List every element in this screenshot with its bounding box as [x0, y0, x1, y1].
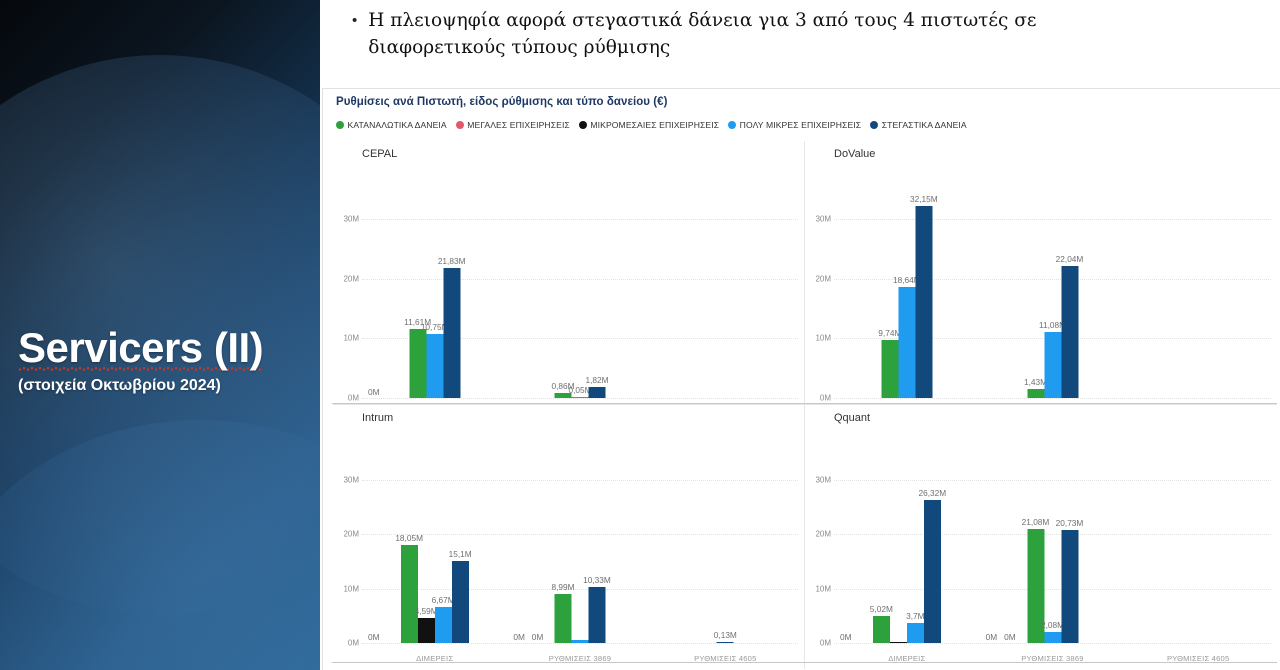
- bar[interactable]: [588, 587, 605, 643]
- zero-value-label: 0M 0M: [986, 632, 1016, 642]
- bars: 0,13M: [717, 453, 734, 643]
- bars: 8,99M10,33M: [554, 453, 605, 643]
- y-axis-tick: 0M: [805, 639, 831, 648]
- bars: 5,02M3,7M26,32M: [873, 453, 941, 643]
- bars: 21,08M2,08M20,73M: [1027, 453, 1078, 643]
- bar-column[interactable]: 32,15M: [915, 189, 932, 398]
- bar[interactable]: [1044, 632, 1061, 643]
- zero-value-label: 0M: [368, 387, 380, 397]
- y-axis-tick: 20M: [805, 274, 831, 283]
- legend-swatch-icon: [728, 121, 736, 129]
- x-axis-tick: ΔΙΜΕΡΕΙΣ: [888, 654, 925, 663]
- bar-column[interactable]: 6,67M: [435, 453, 452, 643]
- bar-group: 1,43M11,08M22,04M: [980, 189, 1126, 398]
- bar[interactable]: [571, 640, 588, 643]
- y-axis-tick: 20M: [333, 274, 359, 283]
- bar-column[interactable]: 22,04M: [1061, 189, 1078, 398]
- legend-swatch-icon: [336, 121, 344, 129]
- chart-panel-qquant[interactable]: Qquant0M10M20M30M0M5,02M3,7M26,32MΔΙΜΕΡΕ…: [805, 405, 1277, 669]
- legend-label: ΜΙΚΡΟΜΕΣΑΙΕΣ ΕΠΙΧΕΙΡΗΣΕΙΣ: [590, 120, 719, 130]
- bar-column[interactable]: 0,13M: [717, 453, 734, 643]
- gridline: [834, 398, 1271, 399]
- bar-group: [653, 189, 798, 398]
- bullet-text: Η πλειοψηφία αφορά στεγαστικά δάνεια για…: [368, 8, 1036, 62]
- bar-column[interactable]: 5,02M: [873, 453, 890, 643]
- bar-value-label: 32,15M: [910, 194, 938, 204]
- y-axis-tick: 0M: [333, 639, 359, 648]
- bar-value-label: 0,13M: [714, 630, 737, 640]
- bar[interactable]: [1061, 266, 1078, 398]
- panel-title: DoValue: [834, 148, 875, 160]
- bar-column[interactable]: 1,43M: [1027, 189, 1044, 398]
- bar-group: ΡΥΘΜΙΣΕΙΣ 4605: [1125, 453, 1271, 643]
- bar[interactable]: [435, 607, 452, 643]
- bar-value-label: 26,32M: [918, 488, 946, 498]
- plot-area: 0M10M20M30M0M18,05M4,59M6,67M15,1MΔΙΜΕΡΕ…: [362, 453, 798, 643]
- gridline: [362, 398, 798, 399]
- small-multiples-grid: CEPAL0M10M20M30M0M11,61M10,75M21,83M0,86…: [333, 141, 1277, 669]
- bar-column[interactable]: 3,7M: [907, 453, 924, 643]
- legend-item[interactable]: ΜΕΓΑΛΕΣ ΕΠΙΧΕΙΡΗΣΕΙΣ: [456, 120, 570, 130]
- y-axis-tick: 30M: [805, 214, 831, 223]
- bars: 0,86M0,05M1,82M: [554, 189, 605, 398]
- x-axis-tick: ΔΙΜΕΡΕΙΣ: [416, 654, 453, 663]
- gridline: [834, 643, 1271, 644]
- bar-column[interactable]: 18,64M: [898, 189, 915, 398]
- x-axis-line: [332, 403, 804, 404]
- x-axis-tick: ΡΥΘΜΙΣΕΙΣ 3869: [549, 654, 611, 663]
- bar-column[interactable]: 1,82M: [588, 189, 605, 398]
- legend-swatch-icon: [579, 121, 587, 129]
- bar-group: 0M5,02M3,7M26,32MΔΙΜΕΡΕΙΣ: [834, 453, 980, 643]
- bar-column[interactable]: 15,1M: [452, 453, 469, 643]
- bullet-line-1: Η πλειοψηφία αφορά στεγαστικά δάνεια για…: [368, 10, 1036, 31]
- bars: 1,43M11,08M22,04M: [1027, 189, 1078, 398]
- bar-column[interactable]: 10,75M: [426, 189, 443, 398]
- bar[interactable]: [571, 397, 588, 398]
- bar-group: [1125, 189, 1271, 398]
- zero-value-label: 0M 0M: [513, 632, 543, 642]
- plot-area: 0M10M20M30M0M11,61M10,75M21,83M0,86M0,05…: [362, 189, 798, 398]
- bar-column[interactable]: 4,59M: [418, 453, 435, 643]
- bar[interactable]: [418, 618, 435, 643]
- bar-column[interactable]: 0,05M: [571, 189, 588, 398]
- x-axis-tick: ΡΥΘΜΙΣΕΙΣ 3869: [1021, 654, 1083, 663]
- bar-group: 0,86M0,05M1,82M: [507, 189, 652, 398]
- bar-group: 9,74M18,64M32,15M: [834, 189, 980, 398]
- chart-panel-dovalue[interactable]: DoValue0M10M20M30M9,74M18,64M32,15M1,43M…: [805, 141, 1277, 405]
- bar-column[interactable]: [571, 453, 588, 643]
- bar-group: 0M 0M21,08M2,08M20,73MΡΥΘΜΙΣΕΙΣ 3869: [980, 453, 1126, 643]
- bar-column[interactable]: 2,08M: [1044, 453, 1061, 643]
- bar-column[interactable]: 20,73M: [1061, 453, 1078, 643]
- bullet-marker-icon: •: [352, 8, 357, 34]
- bar-column[interactable]: 21,08M: [1027, 453, 1044, 643]
- bar[interactable]: [717, 642, 734, 643]
- y-axis-tick: 10M: [805, 584, 831, 593]
- bars: 18,05M4,59M6,67M15,1M: [401, 453, 469, 643]
- zero-value-label: 0M: [368, 632, 380, 642]
- legend-item[interactable]: ΠΟΛΥ ΜΙΚΡΕΣ ΕΠΙΧΕΙΡΗΣΕΙΣ: [728, 120, 861, 130]
- panel-title: CEPAL: [362, 148, 397, 160]
- slide-canvas: Servicers (II) (στοιχεία Οκτωβρίου 2024)…: [0, 0, 1280, 670]
- title-panel: Servicers (II) (στοιχεία Οκτωβρίου 2024): [0, 0, 320, 670]
- bar-column[interactable]: 0,86M: [554, 189, 571, 398]
- bar-column[interactable]: 11,08M: [1044, 189, 1061, 398]
- chart-legend[interactable]: ΚΑΤΑΝΑΛΩΤΙΚΑ ΔΑΝΕΙΑΜΕΓΑΛΕΣ ΕΠΙΧΕΙΡΗΣΕΙΣΜ…: [336, 120, 1276, 130]
- bar-value-label: 21,83M: [438, 256, 466, 266]
- bar[interactable]: [873, 616, 890, 643]
- legend-item[interactable]: ΣΤΕΓΑΣΤΙΚΑ ΔΑΝΕΙΑ: [870, 120, 967, 130]
- bar-column[interactable]: 21,83M: [443, 189, 460, 398]
- y-axis-tick: 10M: [333, 334, 359, 343]
- bar-groups: 0M18,05M4,59M6,67M15,1MΔΙΜΕΡΕΙΣ0M 0M8,99…: [362, 453, 798, 643]
- bar-column[interactable]: [890, 453, 907, 643]
- plot-area: 0M10M20M30M0M5,02M3,7M26,32MΔΙΜΕΡΕΙΣ0M 0…: [834, 453, 1271, 643]
- legend-label: ΣΤΕΓΑΣΤΙΚΑ ΔΑΝΕΙΑ: [882, 120, 967, 130]
- bar[interactable]: [890, 642, 907, 643]
- x-axis-tick: ΡΥΘΜΙΣΕΙΣ 4605: [694, 654, 756, 663]
- gridline: [362, 643, 798, 644]
- legend-label: ΜΕΓΑΛΕΣ ΕΠΙΧΕΙΡΗΣΕΙΣ: [467, 120, 570, 130]
- bullet-line-2: διαφορετικούς τύπους ρύθμισης: [368, 35, 1036, 62]
- bar[interactable]: [409, 329, 426, 398]
- bar-column[interactable]: 10,33M: [588, 453, 605, 643]
- bar[interactable]: [915, 206, 932, 398]
- plot-area: 0M10M20M30M9,74M18,64M32,15M1,43M11,08M2…: [834, 189, 1271, 398]
- bar-column[interactable]: 9,74M: [881, 189, 898, 398]
- bar[interactable]: [898, 287, 915, 398]
- bar-column[interactable]: 11,61M: [409, 189, 426, 398]
- page-title: Servicers (II): [18, 327, 263, 371]
- bar[interactable]: [426, 334, 443, 398]
- bar[interactable]: [554, 594, 571, 643]
- panel-title: Intrum: [362, 412, 393, 424]
- bullet-paragraph: • Η πλειοψηφία αφορά στεγαστικά δάνεια γ…: [352, 8, 1268, 62]
- bar-column[interactable]: 26,32M: [924, 453, 941, 643]
- bar-group: 0M18,05M4,59M6,67M15,1MΔΙΜΕΡΕΙΣ: [362, 453, 507, 643]
- y-axis-tick: 10M: [333, 584, 359, 593]
- y-axis-tick: 20M: [805, 530, 831, 539]
- legend-item[interactable]: ΚΑΤΑΝΑΛΩΤΙΚΑ ΔΑΝΕΙΑ: [336, 120, 447, 130]
- bar[interactable]: [1044, 332, 1061, 398]
- bar[interactable]: [452, 561, 469, 643]
- legend-swatch-icon: [456, 121, 464, 129]
- zero-value-label: 0M: [840, 632, 852, 642]
- bar[interactable]: [924, 500, 941, 643]
- title-block: Servicers (II) (στοιχεία Οκτωβρίου 2024): [18, 327, 318, 395]
- powerbi-visual[interactable]: Ρυθμίσεις ανά Πιστωτή, είδος ρύθμισης κα…: [322, 88, 1280, 670]
- chart-title: Ρυθμίσεις ανά Πιστωτή, είδος ρύθμισης κα…: [336, 96, 668, 108]
- panel-title: Qquant: [834, 412, 870, 424]
- y-axis-tick: 0M: [333, 394, 359, 403]
- bar[interactable]: [907, 623, 924, 643]
- legend-label: ΚΑΤΑΝΑΛΩΤΙΚΑ ΔΑΝΕΙΑ: [348, 120, 447, 130]
- bar-groups: 0M11,61M10,75M21,83M0,86M0,05M1,82M: [362, 189, 798, 398]
- y-axis-tick: 0M: [805, 394, 831, 403]
- bar-value-label: 22,04M: [1056, 254, 1084, 264]
- bar-group: 0,13MΡΥΘΜΙΣΕΙΣ 4605: [653, 453, 798, 643]
- bar[interactable]: [881, 340, 898, 398]
- bar-groups: 9,74M18,64M32,15M1,43M11,08M22,04M: [834, 189, 1271, 398]
- chart-panel-intrum[interactable]: Intrum0M10M20M30M0M18,05M4,59M6,67M15,1M…: [333, 405, 805, 669]
- chart-panel-cepal[interactable]: CEPAL0M10M20M30M0M11,61M10,75M21,83M0,86…: [333, 141, 805, 405]
- bar-value-label: 20,73M: [1056, 518, 1084, 528]
- bars: 11,61M10,75M21,83M: [409, 189, 460, 398]
- bar[interactable]: [401, 545, 418, 643]
- y-axis-tick: 30M: [333, 214, 359, 223]
- bar-group: 0M 0M8,99M10,33MΡΥΘΜΙΣΕΙΣ 3869: [507, 453, 652, 643]
- legend-label: ΠΟΛΥ ΜΙΚΡΕΣ ΕΠΙΧΕΙΡΗΣΕΙΣ: [740, 120, 862, 130]
- bar[interactable]: [1027, 389, 1044, 398]
- y-axis-tick: 30M: [805, 476, 831, 485]
- bar-group: 0M11,61M10,75M21,83M: [362, 189, 507, 398]
- bar[interactable]: [443, 268, 460, 398]
- bar-groups: 0M5,02M3,7M26,32MΔΙΜΕΡΕΙΣ0M 0M21,08M2,08…: [834, 453, 1271, 643]
- bar-column[interactable]: 8,99M: [554, 453, 571, 643]
- legend-item[interactable]: ΜΙΚΡΟΜΕΣΑΙΕΣ ΕΠΙΧΕΙΡΗΣΕΙΣ: [579, 120, 719, 130]
- bar-value-label: 3,7M: [906, 611, 924, 621]
- x-axis-line: [804, 403, 1277, 404]
- bars: 9,74M18,64M32,15M: [881, 189, 932, 398]
- x-axis-tick: ΡΥΘΜΙΣΕΙΣ 4605: [1167, 654, 1229, 663]
- bar-value-label: 10,33M: [583, 575, 611, 585]
- page-subtitle: (στοιχεία Οκτωβρίου 2024): [18, 377, 318, 395]
- y-axis-tick: 10M: [805, 334, 831, 343]
- bar[interactable]: [588, 387, 605, 398]
- bar-value-label: 1,82M: [585, 375, 608, 385]
- legend-swatch-icon: [870, 121, 878, 129]
- y-axis-tick: 30M: [333, 476, 359, 485]
- bar[interactable]: [1061, 530, 1078, 643]
- bar-value-label: 15,1M: [449, 549, 472, 559]
- y-axis-tick: 20M: [333, 530, 359, 539]
